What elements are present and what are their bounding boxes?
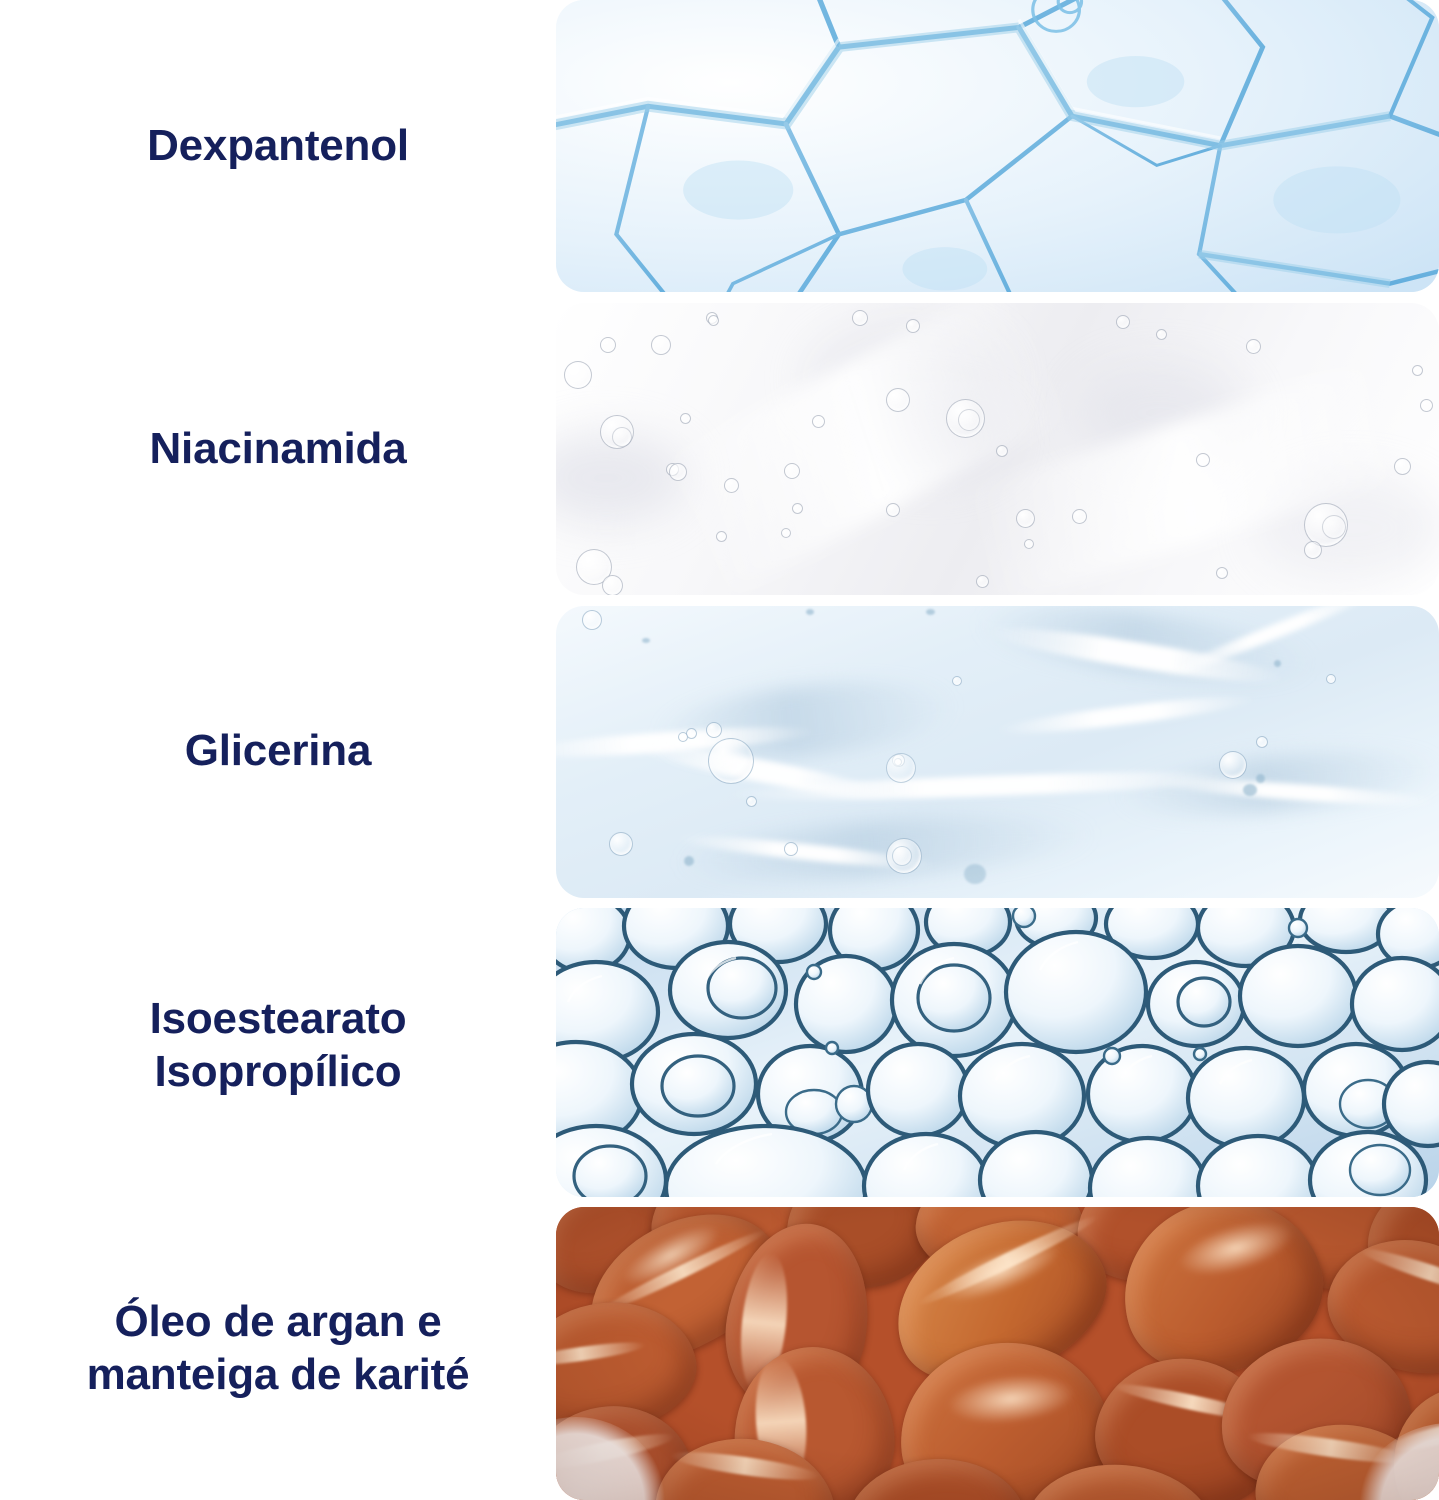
panel-blue-flowing-gel-texture [556, 606, 1439, 898]
gel-highlight-streak [996, 690, 1256, 740]
gel-bubble [1304, 541, 1322, 559]
gel-bubble [680, 413, 691, 424]
gel-dark-dot [964, 864, 986, 884]
gel-bubble [1156, 329, 1167, 340]
gel-dark-dot [642, 638, 650, 643]
ingredient-list-board: Dexpantenol Niacinamida Glicerina Isoest… [0, 0, 1439, 1500]
ingredient-label-line: Isoestearato [150, 993, 407, 1044]
gel-bubble [1326, 674, 1336, 684]
gel-bubble [886, 388, 910, 412]
ingredient-label-line: Niacinamida [149, 423, 406, 474]
bubble-cluster-icon: .bw{fill:url(#bi);stroke:#2d5a78;stroke-… [556, 908, 1439, 1197]
gel-bubble [609, 832, 633, 856]
gel-bubble [1219, 751, 1247, 779]
ingredient-label-column: Dexpantenol Niacinamida Glicerina Isoest… [0, 0, 556, 1500]
ingredient-label-line: Isopropílico [155, 1046, 402, 1097]
panel-dense-blue-bubbles-macro: .bw{fill:url(#bi);stroke:#2d5a78;stroke-… [556, 908, 1439, 1197]
gel-bubble [1246, 339, 1261, 354]
gel-bubble [724, 478, 739, 493]
ingredient-label-line: Dexpantenol [147, 120, 409, 171]
gel-dark-dot [1256, 774, 1265, 783]
ingredient-label-oleo-de-argan-e-manteiga-de-karite: Óleo de argan e manteiga de karité [0, 1286, 556, 1410]
ingredient-label-line: Glicerina [185, 725, 372, 776]
gel-dark-dot [806, 609, 814, 615]
gel-bubble [1196, 453, 1210, 467]
panel-clear-gel-bubbles-texture [556, 303, 1439, 595]
gel-bubble [1116, 315, 1130, 329]
gel-bubble [958, 409, 980, 431]
ingredient-label-line: Óleo de argan e [114, 1296, 441, 1347]
gel-bubble [886, 753, 916, 783]
ingredient-label-line: manteiga de karité [87, 1349, 470, 1400]
ingredient-label-dexpantenol: Dexpantenol [0, 110, 556, 182]
gel-bubble [792, 503, 803, 514]
gel-bubble [784, 463, 800, 479]
gel-bubble [784, 842, 798, 856]
gel-dark-dot [1274, 660, 1281, 667]
gel-bubble [1216, 567, 1228, 579]
gel-bubble [892, 846, 912, 866]
gel-dark-dot [684, 856, 694, 866]
gel-bubble [906, 319, 920, 333]
gel-bubble [996, 445, 1008, 457]
gel-bubble [1256, 736, 1268, 748]
gel-bubble [678, 732, 688, 742]
gel-bubble [781, 528, 791, 538]
gel-bubble [1420, 399, 1433, 412]
ingredient-label-isoestearato-isopropilico: Isoestearato Isopropílico [0, 983, 556, 1107]
ingredient-label-niacinamida: Niacinamida [0, 413, 556, 485]
gel-dark-dot [1243, 784, 1257, 796]
gel-bubble [886, 503, 900, 517]
gel-bubble [582, 610, 602, 630]
gel-bubble [564, 361, 592, 389]
gel-bubble [612, 427, 632, 447]
gel-bubble [812, 415, 825, 428]
gel-bubble [716, 531, 727, 542]
gel-bubble [669, 463, 687, 481]
gel-bubble [1322, 515, 1346, 539]
gel-dark-dot [926, 609, 935, 615]
gel-bubble [708, 738, 754, 784]
gel-bubble [1394, 458, 1411, 475]
panel-argan-nuts-photo [556, 1207, 1439, 1500]
gel-bubble [602, 575, 623, 595]
gel-bubble [1072, 509, 1087, 524]
gel-bubble [651, 335, 671, 355]
gel-bubble [708, 315, 719, 326]
gel-bubble [1016, 509, 1035, 528]
ingredient-label-glicerina: Glicerina [0, 715, 556, 787]
photo-vignette [556, 1207, 1439, 1500]
bubble-cell-walls-icon [556, 0, 1439, 292]
gel-bubble [600, 337, 616, 353]
panel-soap-bubble-foam-macro [556, 0, 1439, 292]
gel-bubble [706, 722, 722, 738]
ingredient-image-column: .bw{fill:url(#bi);stroke:#2d5a78;stroke-… [556, 0, 1439, 1500]
gel-bubble [746, 796, 757, 807]
gel-bubble [852, 310, 868, 326]
gel-bubble [1024, 539, 1034, 549]
gel-bubble [976, 575, 989, 588]
gel-bubble [1412, 365, 1423, 376]
gel-bubble [952, 676, 962, 686]
